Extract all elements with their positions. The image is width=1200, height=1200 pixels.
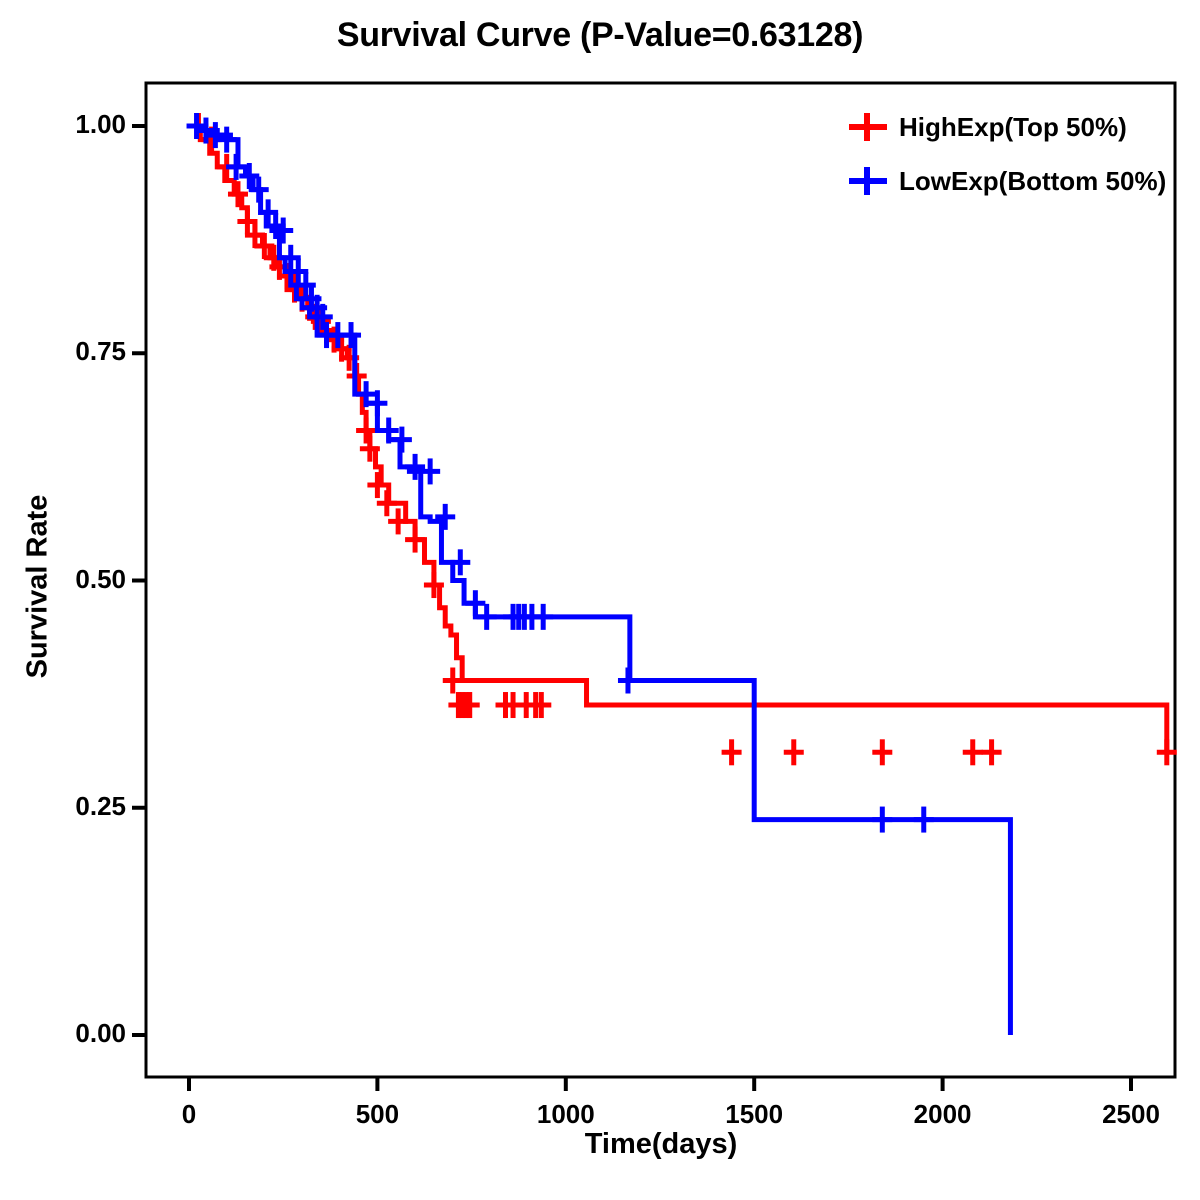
censor-marker <box>784 739 804 765</box>
censor-marker <box>228 181 248 207</box>
series-high-exp <box>188 113 1176 765</box>
x-tick-label: 0 <box>129 1099 249 1130</box>
censor-marker <box>477 604 497 630</box>
x-axis-label: Time(days) <box>146 1128 1176 1161</box>
legend-item[interactable]: HighExp(Top 50%) <box>845 100 1175 154</box>
legend-item-label: LowExp(Bottom 50%) <box>899 166 1166 197</box>
plus-marker-icon <box>845 107 891 147</box>
y-tick-label: 1.00 <box>36 109 126 140</box>
censor-marker <box>872 807 892 833</box>
censor-marker <box>356 418 376 444</box>
x-tick-label: 500 <box>317 1099 437 1130</box>
survival-curve-figure: Survival Curve (P-Value=0.63128) Surviva… <box>0 0 1200 1200</box>
legend-item[interactable]: LowExp(Bottom 50%) <box>845 154 1175 208</box>
y-tick-label: 0.75 <box>36 336 126 367</box>
censor-marker <box>533 604 553 630</box>
censor-marker <box>435 504 455 530</box>
censor-marker <box>982 739 1002 765</box>
page-title: Survival Curve (P-Value=0.63128) <box>0 16 1200 55</box>
plus-marker-icon <box>845 161 891 201</box>
censor-marker <box>722 739 742 765</box>
censor-marker <box>465 590 485 616</box>
series-low-exp <box>187 113 1011 1035</box>
x-tick-label: 2500 <box>1071 1099 1191 1130</box>
censor-marker <box>618 667 638 693</box>
y-tick-label: 0.25 <box>36 791 126 822</box>
legend: HighExp(Top 50%) LowExp(Bottom 50%) <box>845 100 1175 208</box>
y-tick-label: 0.50 <box>36 564 126 595</box>
censor-marker <box>963 739 983 765</box>
censor-marker <box>914 807 934 833</box>
y-tick-label: 0.00 <box>36 1018 126 1049</box>
censor-marker <box>872 739 892 765</box>
legend-item-label: HighExp(Top 50%) <box>899 112 1127 143</box>
series-layer <box>187 113 1177 1035</box>
x-tick-label: 1000 <box>506 1099 626 1130</box>
x-tick-label: 2000 <box>883 1099 1003 1130</box>
axes-frame <box>146 83 1175 1077</box>
x-tick-label: 1500 <box>694 1099 814 1130</box>
